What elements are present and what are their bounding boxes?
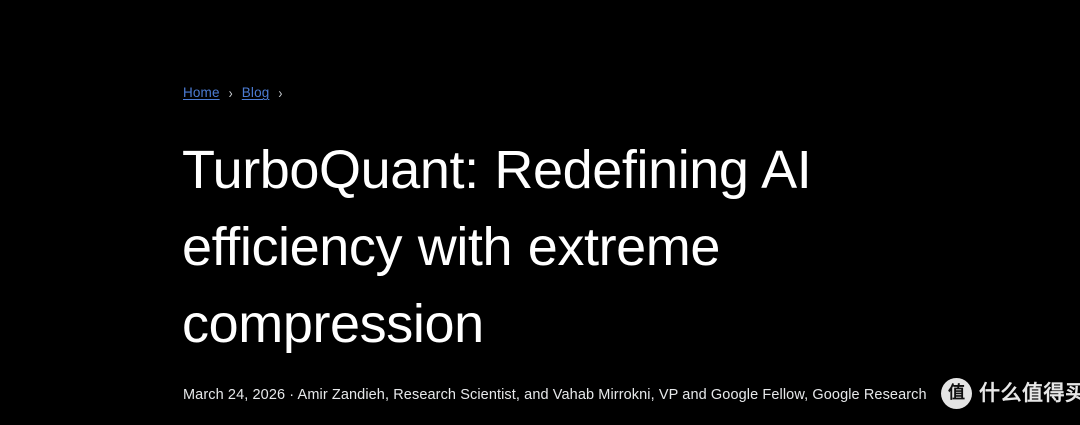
article-page: Home › Blog › TurboQuant: Redefining AI …	[0, 0, 1080, 425]
breadcrumb-item-blog[interactable]: Blog	[242, 84, 270, 102]
breadcrumb: Home › Blog ›	[183, 84, 283, 102]
chevron-right-icon-trailing: ›	[278, 82, 282, 105]
page-title: TurboQuant: Redefining AI efficiency wit…	[182, 132, 972, 363]
article-byline: March 24, 2026 · Amir Zandieh, Research …	[183, 385, 1073, 405]
breadcrumb-item-home[interactable]: Home	[183, 84, 220, 102]
watermark-label: 什么值得买	[979, 378, 1080, 409]
watermark: 值 什么值得买	[941, 378, 1080, 409]
smzdm-logo-icon: 值	[941, 378, 972, 409]
chevron-right-icon: ›	[229, 82, 233, 105]
